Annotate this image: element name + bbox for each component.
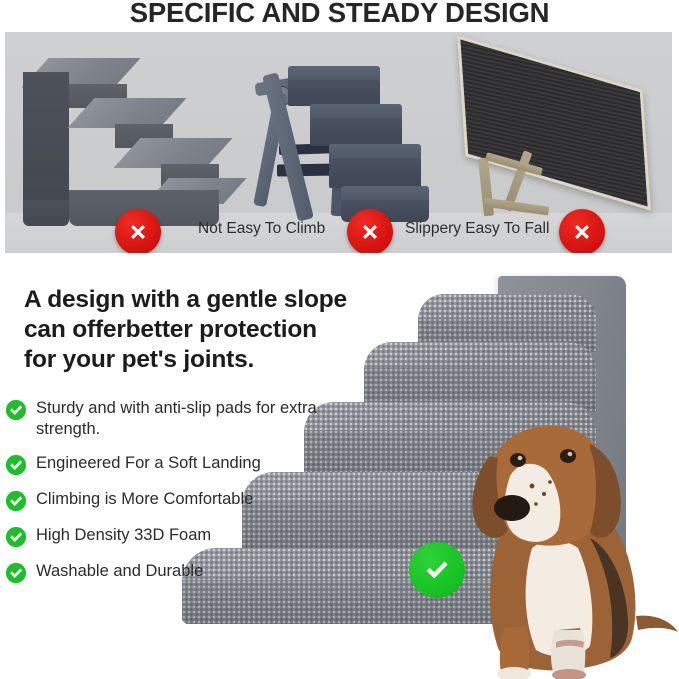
feature-list: Sturdy and with anti-slip pads for extra… [5, 398, 345, 597]
green-check-icon [5, 562, 27, 584]
feature-text: Climbing is More Comfortable [36, 489, 345, 510]
page-title: SPECIFIC AND STEADY DESIGN [0, 0, 679, 28]
feature-text: High Density 33D Foam [36, 525, 345, 546]
infographic-page: SPECIFIC AND STEADY DESIGN [0, 0, 679, 679]
list-item: Engineered For a Soft Landing [5, 453, 345, 476]
green-check-icon [5, 526, 27, 548]
headline-line-2: can offerbetter protection [24, 315, 354, 345]
feature-text: Sturdy and with anti-slip pads for extra… [36, 398, 345, 440]
green-check-icon [5, 490, 27, 512]
benefits-section: A design with a gentle slope can offerbe… [0, 258, 679, 679]
caption-not-easy-to-climb: Not Easy To Climb [198, 220, 325, 238]
red-x-icon [347, 209, 393, 253]
headline-line-1: A design with a gentle slope [24, 285, 354, 315]
plastic-folding-stairs-image [255, 52, 430, 232]
list-item: Climbing is More Comfortable [5, 489, 345, 512]
caption-slippery-easy-to-fall: Slippery Easy To Fall [405, 220, 549, 238]
wooden-carpet-ramp-image [451, 50, 666, 235]
headline-line-3: for your pet's joints. [24, 345, 354, 375]
red-x-icon [115, 209, 161, 253]
green-check-icon [409, 542, 465, 598]
comparison-panel: Not Easy To Climb Slippery Easy To Fall [5, 32, 672, 253]
list-item: Sturdy and with anti-slip pads for extra… [5, 398, 345, 440]
feature-text: Engineered For a Soft Landing [36, 453, 345, 474]
green-check-icon [5, 399, 27, 421]
foam-block-stairs-image [17, 50, 225, 230]
list-item: High Density 33D Foam [5, 525, 345, 548]
red-x-icon [559, 209, 605, 253]
green-check-icon [5, 454, 27, 476]
benefits-headline: A design with a gentle slope can offerbe… [24, 285, 354, 375]
list-item: Washable and Durable [5, 561, 345, 584]
beagle-dog-image [440, 398, 679, 679]
feature-text: Washable and Durable [36, 561, 345, 582]
